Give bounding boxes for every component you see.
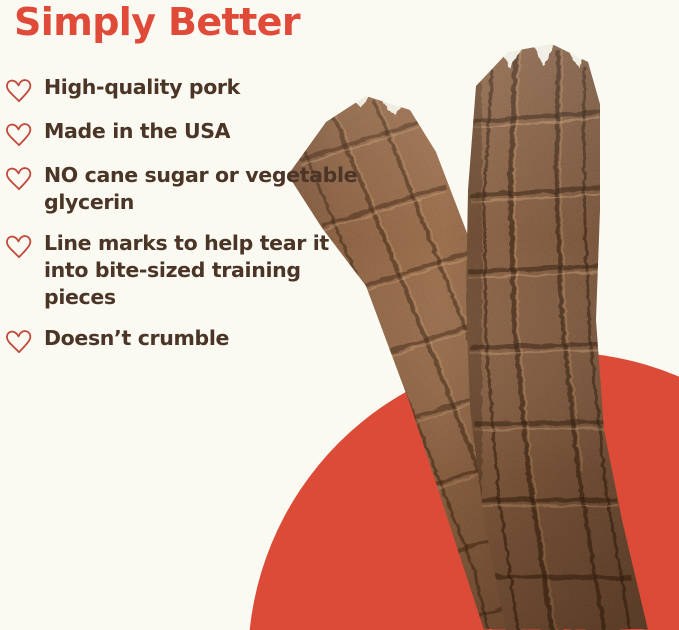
product-benefits-poster: Simply Better High-quality pork Made in … xyxy=(0,0,679,630)
heart-outline-icon xyxy=(5,166,33,192)
list-item: Made in the USA xyxy=(0,118,360,148)
list-item: High-quality pork xyxy=(0,74,360,104)
heart-outline-icon xyxy=(5,234,33,260)
heart-outline-icon xyxy=(5,122,33,148)
benefits-text-column: Simply Better High-quality pork Made in … xyxy=(0,0,360,630)
heart-outline-icon xyxy=(5,329,33,355)
benefits-list: High-quality pork Made in the USA NO can… xyxy=(0,74,360,369)
heart-outline-icon xyxy=(5,78,33,104)
benefit-label: NO cane sugar or vegetable glycerin xyxy=(44,162,360,216)
list-item: Doesn’t crumble xyxy=(0,325,360,355)
benefit-label: Doesn’t crumble xyxy=(44,325,360,352)
benefit-label: Made in the USA xyxy=(44,118,360,145)
list-item: NO cane sugar or vegetable glycerin xyxy=(0,162,360,216)
benefit-label: Line marks to help tear it into bite-siz… xyxy=(44,230,360,311)
benefit-label: High-quality pork xyxy=(44,74,360,101)
page-title: Simply Better xyxy=(14,2,300,44)
list-item: Line marks to help tear it into bite-siz… xyxy=(0,230,360,311)
